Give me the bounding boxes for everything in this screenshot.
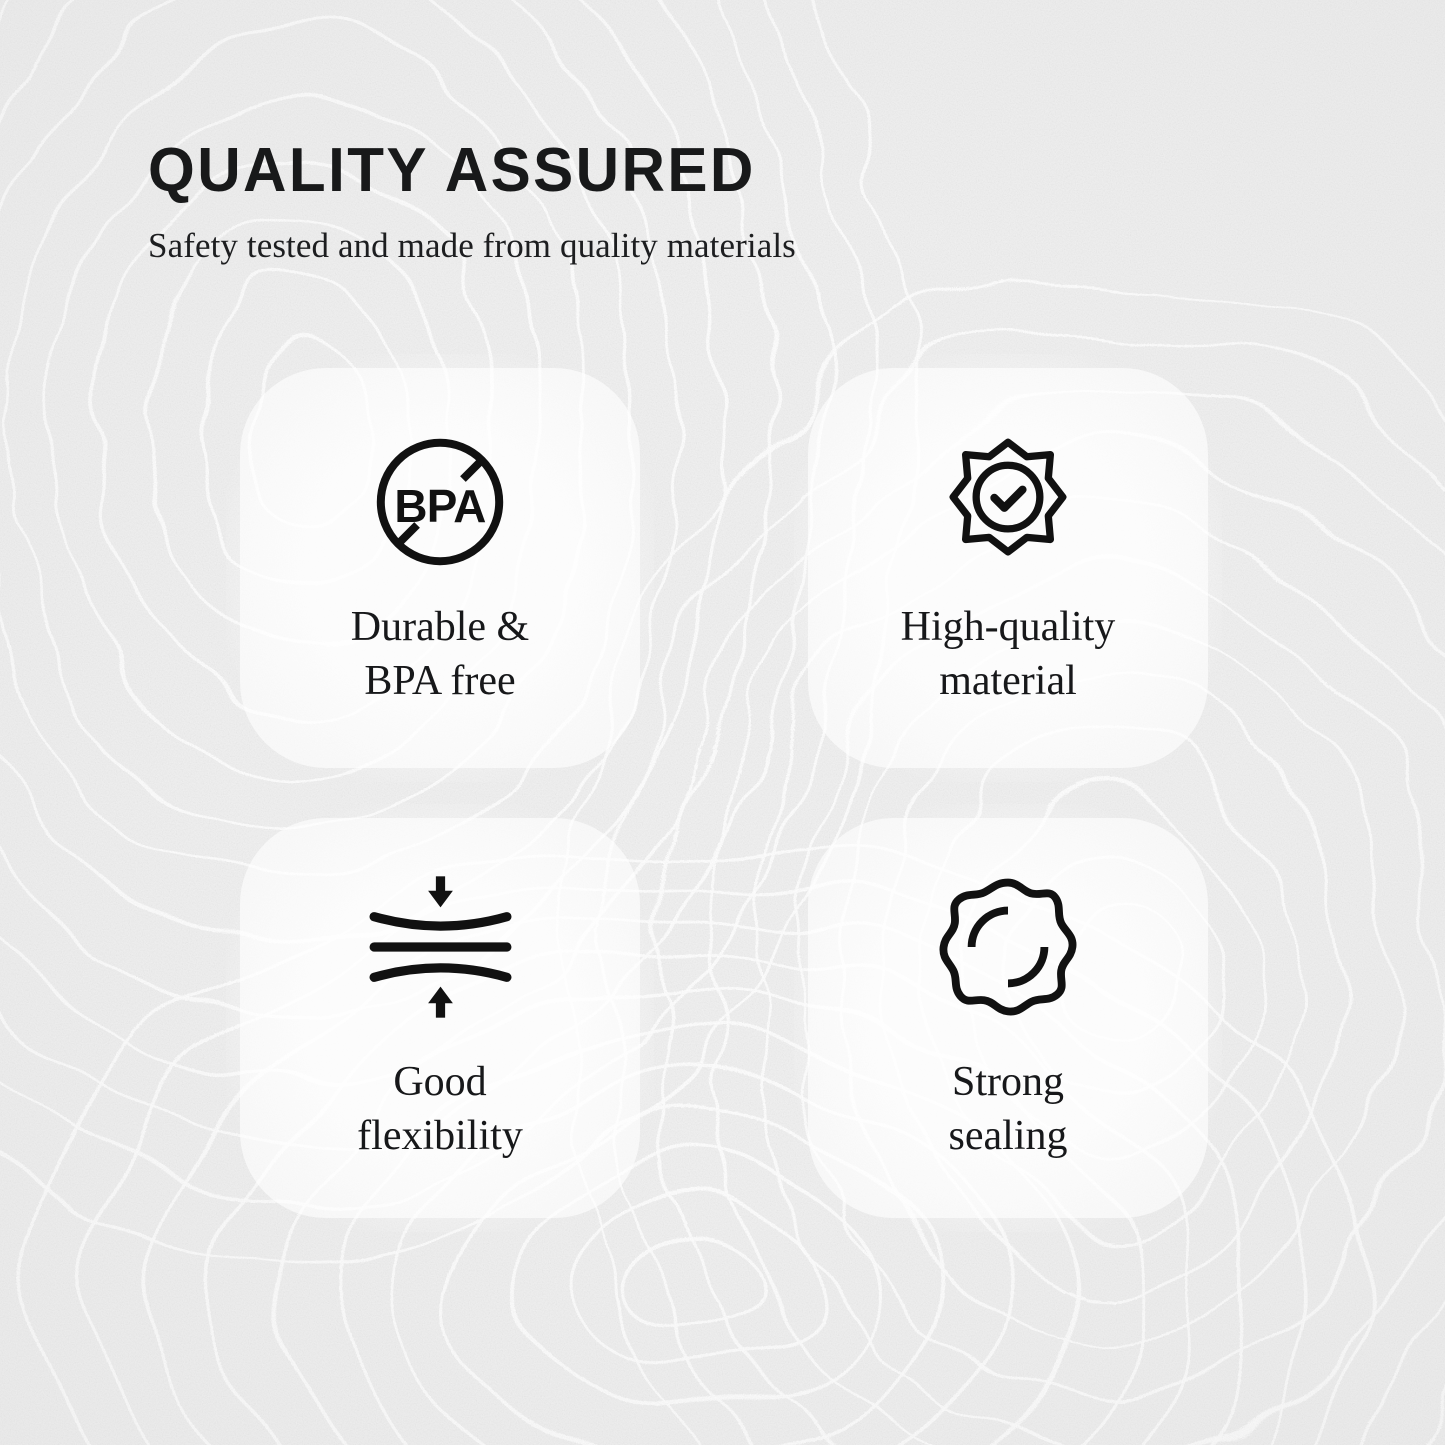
feature-label: Good flexibility bbox=[357, 1056, 523, 1164]
feature-label: Strong sealing bbox=[949, 1056, 1068, 1164]
page-title: QUALITY ASSURED bbox=[148, 140, 1215, 202]
flexibility-compression-icon bbox=[365, 872, 515, 1022]
page-subtitle: Safety tested and made from quality mate… bbox=[148, 226, 1248, 266]
quality-badge-check-icon bbox=[933, 427, 1083, 577]
feature-card-bpa-free[interactable]: BPA Durable & BPA free bbox=[240, 368, 640, 768]
bpa-free-icon: BPA bbox=[365, 427, 515, 577]
infographic-canvas: QUALITY ASSURED Safety tested and made f… bbox=[0, 0, 1445, 1445]
feature-card-strong-sealing[interactable]: Strong sealing bbox=[808, 818, 1208, 1218]
feature-label: High-quality material bbox=[901, 601, 1116, 709]
feature-card-good-flexibility[interactable]: Good flexibility bbox=[240, 818, 640, 1218]
feature-grid: BPA Durable & BPA free High-quality mate… bbox=[240, 368, 1208, 1218]
svg-text:BPA: BPA bbox=[394, 480, 485, 532]
feature-label: Durable & BPA free bbox=[351, 601, 529, 709]
header: QUALITY ASSURED Safety tested and made f… bbox=[148, 140, 1248, 266]
feature-card-high-quality-material[interactable]: High-quality material bbox=[808, 368, 1208, 768]
seal-icon bbox=[933, 872, 1083, 1022]
